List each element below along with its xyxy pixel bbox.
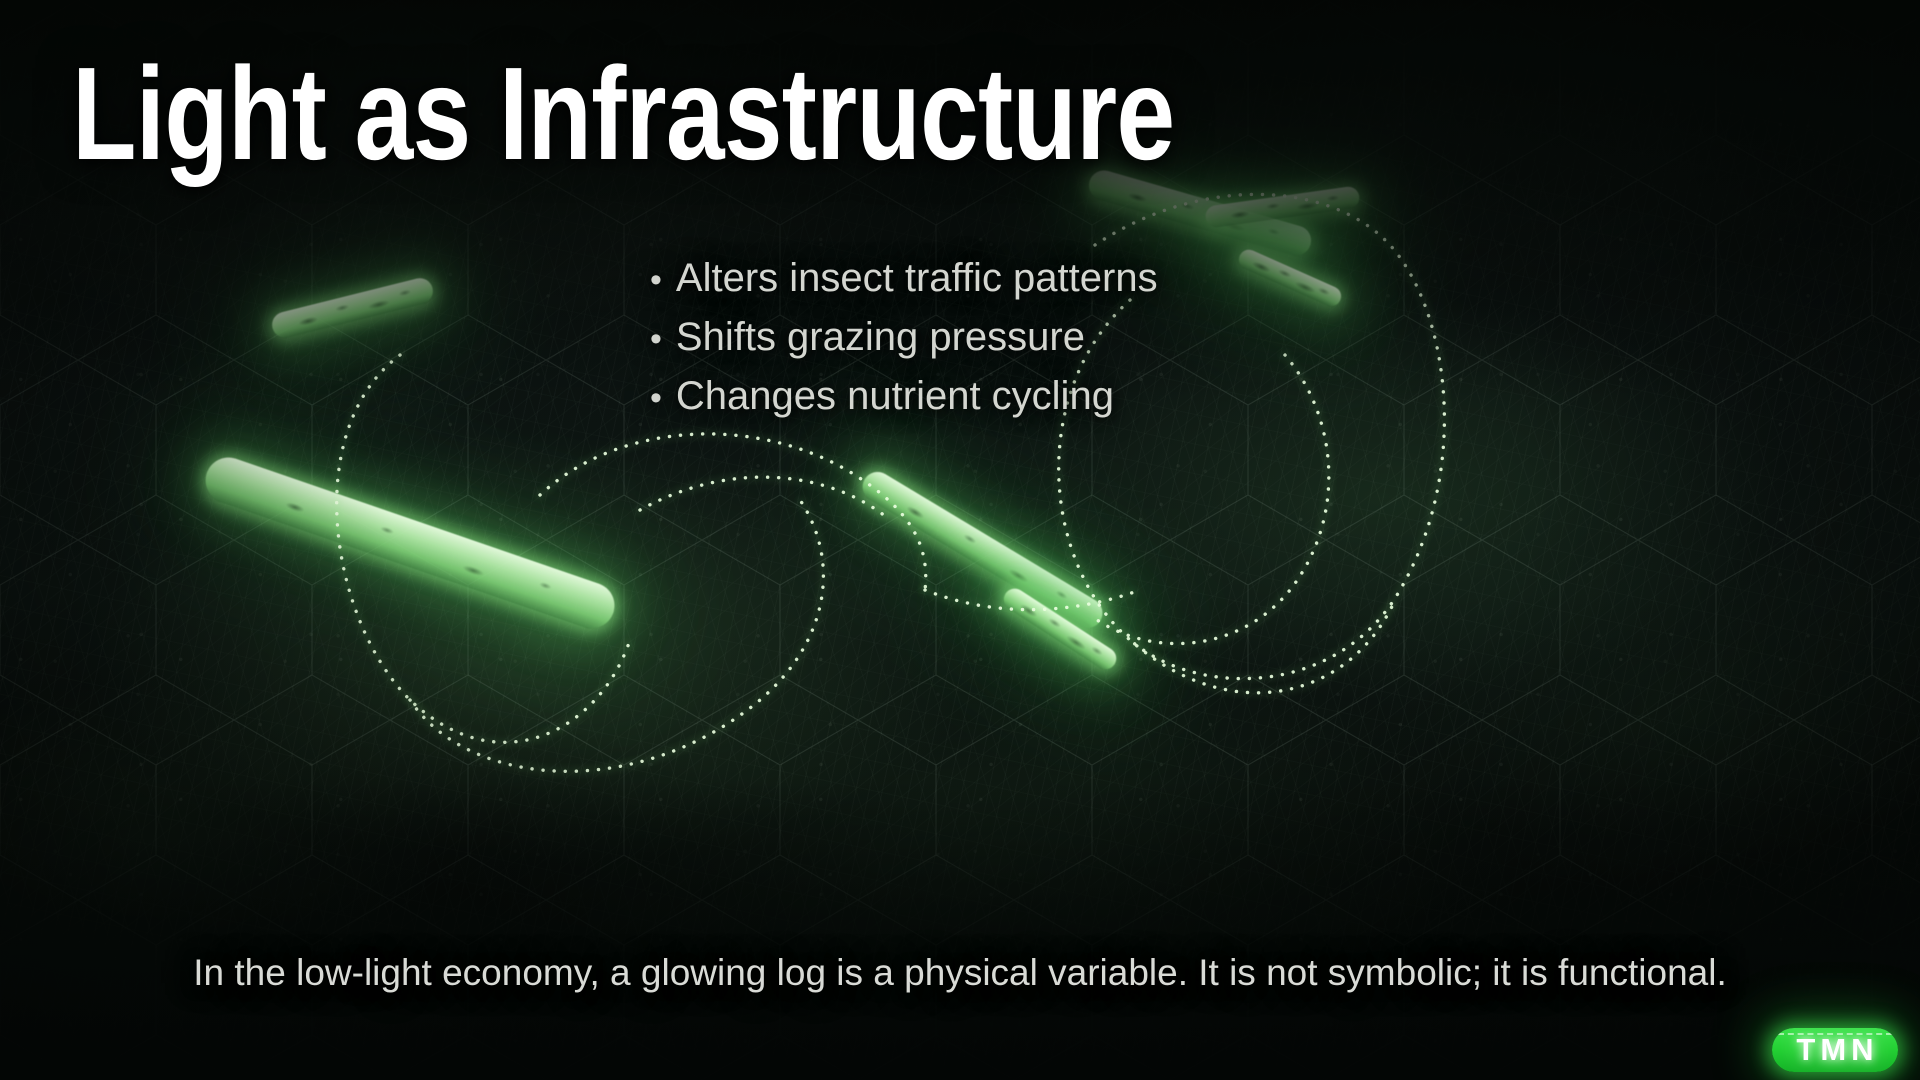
bullet-marker-icon: •: [650, 311, 662, 368]
bullet-marker-icon: •: [650, 252, 662, 309]
bullet-list: • Alters insect traffic patterns • Shift…: [650, 250, 1158, 427]
presentation-slide: Light as Infrastructure • Alters insect …: [0, 0, 1920, 1080]
bullet-item: • Alters insect traffic patterns: [650, 250, 1158, 309]
bullet-text: Alters insect traffic patterns: [676, 250, 1158, 307]
bullet-text: Shifts grazing pressure: [676, 309, 1085, 366]
bullet-text: Changes nutrient cycling: [676, 368, 1114, 425]
slide-content: Light as Infrastructure • Alters insect …: [0, 0, 1920, 1080]
bullet-item: • Shifts grazing pressure: [650, 309, 1158, 368]
bullet-item: • Changes nutrient cycling: [650, 368, 1158, 427]
slide-caption: In the low-light economy, a glowing log …: [0, 952, 1920, 994]
bullet-marker-icon: •: [650, 370, 662, 427]
slide-title: Light as Infrastructure: [72, 48, 1174, 180]
tmn-logo-badge: TMN: [1772, 1028, 1898, 1072]
tmn-logo-text: TMN: [1791, 1032, 1878, 1068]
